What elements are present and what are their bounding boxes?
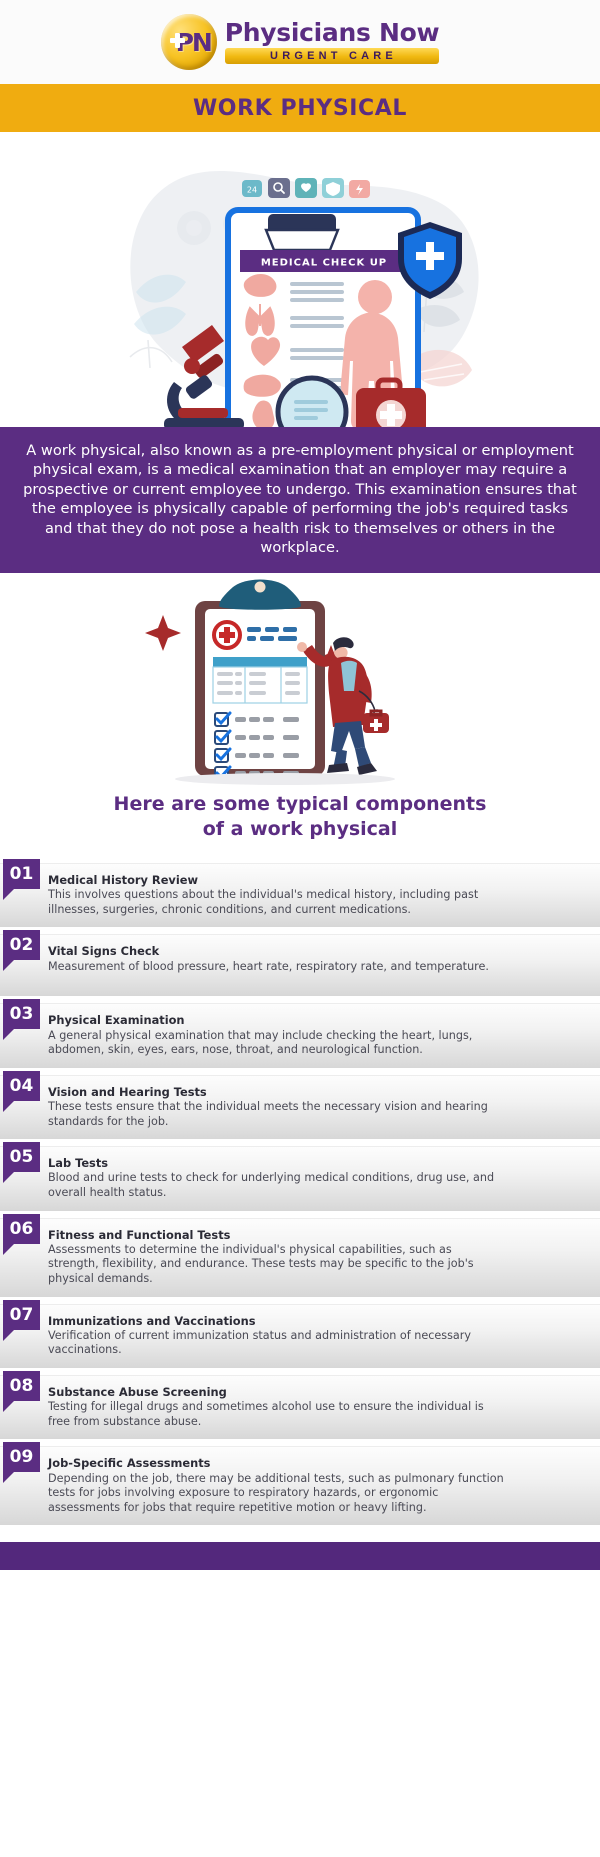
- intro-paragraph: A work physical, also known as a pre-emp…: [0, 427, 600, 573]
- item-title: Vision and Hearing Tests: [48, 1085, 504, 1099]
- item-number-badge: 02: [3, 930, 40, 960]
- hero-illustration: 24 MEDICAL CHECK UP: [0, 132, 600, 427]
- list-item: 08 Substance Abuse Screening Testing for…: [0, 1375, 600, 1439]
- item-number-badge: 07: [3, 1300, 40, 1330]
- item-title: Fitness and Functional Tests: [48, 1228, 504, 1242]
- list-item-body: Substance Abuse Screening Testing for il…: [0, 1375, 600, 1439]
- item-number-badge: 04: [3, 1071, 40, 1101]
- item-description: This involves questions about the indivi…: [48, 888, 504, 917]
- list-item: 01 Medical History Review This involves …: [0, 863, 600, 927]
- list-item: 05 Lab Tests Blood and urine tests to ch…: [0, 1146, 600, 1210]
- item-number-badge: 06: [3, 1214, 40, 1244]
- list-item: 07 Immunizations and Vaccinations Verifi…: [0, 1304, 600, 1368]
- section-heading-line2: of a work physical: [20, 817, 580, 841]
- footer-bar: [0, 1542, 600, 1570]
- list-item-body: Physical Examination A general physical …: [0, 1003, 600, 1067]
- list-item-body: Medical History Review This involves que…: [0, 863, 600, 927]
- components-list: 01 Medical History Review This involves …: [0, 863, 600, 1542]
- list-item: 02 Vital Signs Check Measurement of bloo…: [0, 934, 600, 996]
- section-heading: Here are some typical components of a wo…: [0, 788, 600, 863]
- item-description: Verification of current immunization sta…: [48, 1329, 504, 1358]
- item-title: Physical Examination: [48, 1013, 504, 1027]
- page-title: WORK PHYSICAL: [193, 96, 407, 121]
- item-title: Medical History Review: [48, 873, 504, 887]
- svg-text:24: 24: [247, 186, 257, 195]
- list-item-body: Immunizations and Vaccinations Verificat…: [0, 1304, 600, 1368]
- item-description: Blood and urine tests to check for under…: [48, 1171, 504, 1200]
- item-description: A general physical examination that may …: [48, 1029, 504, 1058]
- list-item-body: Lab Tests Blood and urine tests to check…: [0, 1146, 600, 1210]
- logo-wordmark: Physicians Now URGENT CARE: [225, 20, 440, 64]
- clipboard-doctor-illustration: [135, 573, 465, 788]
- logo[interactable]: PN Physicians Now URGENT CARE: [161, 14, 440, 70]
- item-title: Job-Specific Assessments: [48, 1456, 504, 1470]
- list-item-body: Job-Specific Assessments Depending on th…: [0, 1446, 600, 1525]
- item-title: Vital Signs Check: [48, 944, 504, 958]
- item-number-badge: 09: [3, 1442, 40, 1472]
- item-title: Immunizations and Vaccinations: [48, 1314, 504, 1328]
- item-number-badge: 05: [3, 1142, 40, 1172]
- medical-cross-icon: [170, 33, 185, 48]
- item-number-badge: 08: [3, 1371, 40, 1401]
- section-heading-line1: Here are some typical components: [20, 792, 580, 816]
- item-title: Substance Abuse Screening: [48, 1385, 504, 1399]
- brand-name: Physicians Now: [225, 20, 440, 46]
- item-number-badge: 01: [3, 859, 40, 889]
- item-title: Lab Tests: [48, 1156, 504, 1170]
- list-item: 03 Physical Examination A general physic…: [0, 1003, 600, 1067]
- medical-checkup-illustration: 24 MEDICAL CHECK UP: [90, 132, 510, 427]
- item-number-badge: 03: [3, 999, 40, 1029]
- item-description: Testing for illegal drugs and sometimes …: [48, 1400, 504, 1429]
- list-item-body: Vital Signs Check Measurement of blood p…: [0, 934, 600, 996]
- logo-coin-badge: PN: [161, 14, 217, 70]
- item-description: Depending on the job, there may be addit…: [48, 1472, 504, 1516]
- brand-header: PN Physicians Now URGENT CARE: [0, 0, 600, 84]
- list-item: 04 Vision and Hearing Tests These tests …: [0, 1075, 600, 1139]
- list-item: 09 Job-Specific Assessments Depending on…: [0, 1446, 600, 1525]
- title-band: WORK PHYSICAL: [0, 84, 600, 132]
- list-item: 06 Fitness and Functional Tests Assessme…: [0, 1218, 600, 1297]
- item-description: Assessments to determine the individual'…: [48, 1243, 504, 1287]
- brand-tagline: URGENT CARE: [225, 48, 440, 64]
- checklist-illustration: [0, 573, 600, 788]
- item-description: Measurement of blood pressure, heart rat…: [48, 960, 504, 975]
- clipboard-header-text: MEDICAL CHECK UP: [261, 258, 387, 269]
- infographic-page: PN Physicians Now URGENT CARE WORK PHYSI…: [0, 0, 600, 1570]
- list-item-body: Fitness and Functional Tests Assessments…: [0, 1218, 600, 1297]
- list-item-body: Vision and Hearing Tests These tests ens…: [0, 1075, 600, 1139]
- item-description: These tests ensure that the individual m…: [48, 1100, 504, 1129]
